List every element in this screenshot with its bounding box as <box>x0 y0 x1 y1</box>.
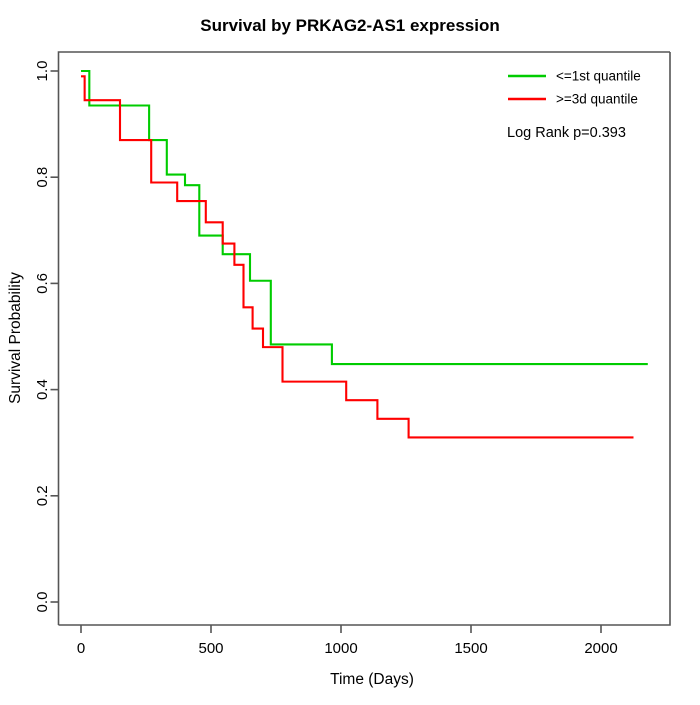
y-tick-label: 0.6 <box>34 273 51 294</box>
legend-label-0: <=1st quantile <box>556 69 641 84</box>
x-axis-title: Time (Days) <box>330 671 414 688</box>
log-rank-pvalue-label: Log Rank p=0.393 <box>507 125 626 141</box>
x-tick-label: 1500 <box>454 640 487 657</box>
kaplan-meier-chart: Survival by PRKAG2-AS1 expression 0.00.2… <box>0 0 700 700</box>
survival-plot-figure: Survival by PRKAG2-AS1 expression 0.00.2… <box>0 0 700 700</box>
x-tick-label: 1000 <box>324 640 357 657</box>
x-tick-label: 0 <box>77 640 85 657</box>
y-tick-label: 0.4 <box>34 379 51 400</box>
y-axis-title: Survival Probability <box>7 272 24 404</box>
x-tick-label: 500 <box>198 640 223 657</box>
y-tick-label: 0.8 <box>34 167 51 188</box>
y-tick-label: 0.2 <box>34 485 51 506</box>
legend-label-1: >=3d quantile <box>556 92 638 107</box>
y-tick-label: 0.0 <box>34 592 51 613</box>
y-tick-label: 1.0 <box>34 61 51 82</box>
x-tick-label: 2000 <box>584 640 617 657</box>
page-title: Survival by PRKAG2-AS1 expression <box>200 16 500 35</box>
